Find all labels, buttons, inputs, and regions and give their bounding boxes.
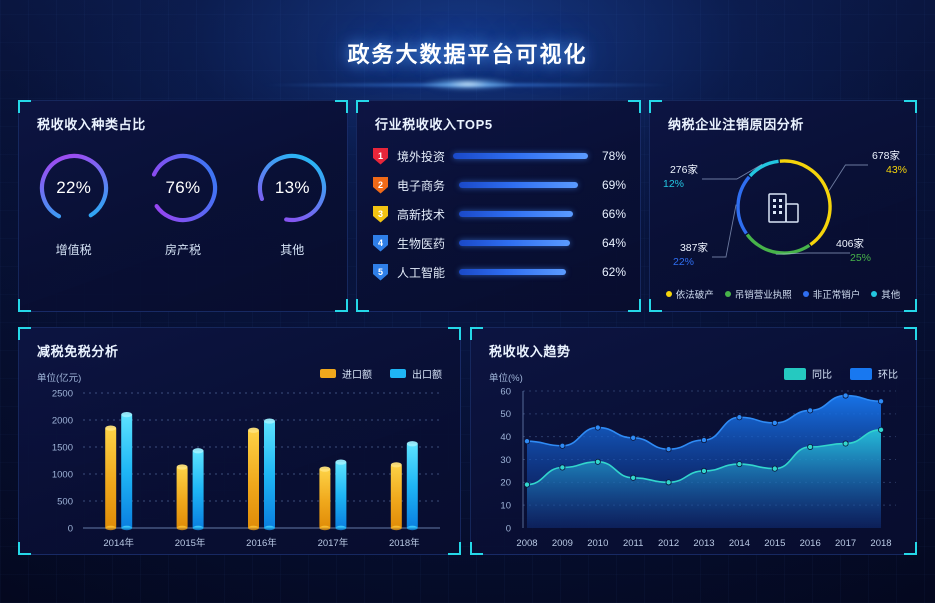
x-axis-tick-label: 2011	[623, 538, 643, 549]
data-point	[843, 441, 848, 446]
data-point	[701, 437, 706, 442]
x-axis-tick-label: 2017	[835, 538, 856, 549]
x-axis-tick-label: 2014	[729, 538, 750, 549]
top5-bar-fill	[459, 211, 573, 217]
bar	[407, 441, 418, 530]
top5-row[interactable]: 1境外投资78%	[373, 145, 626, 167]
top5-percent-value: 62%	[592, 265, 626, 279]
top5-industry-label: 生物医药	[397, 235, 457, 252]
data-point	[701, 468, 706, 473]
header-glow-core	[423, 78, 513, 90]
data-point	[878, 427, 883, 432]
corner-bracket-tl	[18, 100, 31, 113]
data-point	[666, 447, 671, 452]
top5-row[interactable]: 5人工智能62%	[373, 261, 626, 283]
top5-row[interactable]: 2电子商务69%	[373, 174, 626, 196]
donut-percent-label: 12%	[663, 178, 684, 190]
area-chart-legend: 同比环比	[784, 366, 898, 381]
top5-industry-label: 人工智能	[397, 264, 457, 281]
corner-bracket-bl	[356, 299, 369, 312]
gauge-label: 房产税	[165, 241, 201, 258]
x-axis-tick-label: 2014年	[103, 537, 134, 549]
top5-bar-fill	[453, 153, 588, 159]
bar	[121, 412, 132, 530]
legend-dot-icon	[871, 291, 877, 297]
panel-tax-reduction: 减税免税分析 单位(亿元) 进口额出口额 0500100015002000250…	[18, 327, 461, 555]
data-point	[737, 415, 742, 420]
gauge-label: 增值税	[56, 241, 92, 258]
panel-industry-top5: 行业税收收入TOP5 1境外投资78%2电子商务69%3高新技术66%4生物医药…	[356, 100, 641, 312]
panel-title-top5: 行业税收收入TOP5	[375, 114, 493, 133]
rank-badge-icon: 1	[373, 148, 388, 165]
top5-row[interactable]: 4生物医药64%	[373, 232, 626, 254]
bar	[248, 428, 259, 531]
x-axis-tick-label: 2009	[552, 538, 573, 549]
area-chart-unit-label: 单位(%)	[489, 370, 523, 384]
y-axis-tick-label: 10	[500, 501, 511, 512]
data-point	[737, 461, 742, 466]
donut-count-label: 406家	[836, 237, 865, 250]
top5-bar-track	[459, 269, 584, 275]
legend-label: 非正常销户	[813, 287, 861, 301]
x-axis-tick-label: 2010	[587, 538, 608, 549]
legend-label: 依法破产	[676, 287, 714, 301]
corner-bracket-tr	[904, 327, 917, 340]
legend-dot-icon	[803, 291, 809, 297]
cancellation-donut-chart: 678家43%406家25%387家22%276家12%	[650, 141, 916, 273]
gauge-label: 其他	[280, 241, 304, 258]
gauge-value: 13%	[253, 149, 331, 227]
x-axis-tick-label: 2012	[658, 538, 679, 549]
gauge-3: 13%其他	[253, 149, 331, 258]
y-axis-tick-label: 500	[57, 496, 73, 507]
bar-chart-legend: 进口额出口额	[320, 366, 442, 381]
y-axis-tick-label: 0	[68, 523, 73, 534]
legend-label: 同比	[812, 366, 832, 381]
bar	[177, 464, 188, 530]
legend-item[interactable]: 依法破产	[666, 287, 714, 301]
y-axis-tick-label: 60	[500, 386, 511, 397]
legend-item[interactable]: 其他	[871, 287, 900, 301]
panel-title-trend: 税收收入趋势	[489, 341, 571, 360]
panel-cancellation-reasons: 纳税企业注销原因分析 678家43%406家25%387家22%276家12% …	[649, 100, 917, 312]
data-point	[595, 425, 600, 430]
legend-item[interactable]: 非正常销户	[803, 287, 861, 301]
data-point	[878, 399, 883, 404]
legend-label: 出口额	[412, 366, 442, 381]
y-axis-tick-label: 1500	[52, 442, 73, 453]
bar	[335, 460, 346, 531]
bar	[264, 418, 275, 530]
cancellation-legend: 依法破产吊销营业执照非正常销户其他	[650, 287, 916, 301]
x-axis-tick-label: 2018	[870, 538, 891, 549]
bar	[319, 467, 330, 531]
x-axis-tick-label: 2013	[693, 538, 714, 549]
x-axis-tick-label: 2008	[516, 538, 537, 549]
top5-percent-value: 69%	[592, 178, 626, 192]
bar	[391, 462, 402, 530]
rank-badge-icon: 5	[373, 264, 388, 281]
page-title: 政务大数据平台可视化	[347, 37, 587, 69]
corner-bracket-tl	[18, 327, 31, 340]
x-axis-tick-label: 2017年	[318, 537, 349, 549]
y-axis-tick-label: 20	[500, 478, 511, 489]
y-axis-tick-label: 1000	[52, 469, 73, 480]
corner-bracket-tr	[904, 100, 917, 113]
panel-title-reduction: 减税免税分析	[37, 341, 119, 360]
gauge-ring: 76%	[144, 149, 222, 227]
legend-label: 吊销营业执照	[735, 287, 792, 301]
panel-tax-trend: 税收收入趋势 单位(%) 同比环比 0102030405060200820092…	[470, 327, 917, 555]
top5-industry-label: 高新技术	[397, 206, 457, 223]
legend-swatch-icon	[850, 368, 872, 380]
gauge-group: 22%增值税76%房产税13%其他	[19, 149, 347, 258]
top5-bar-fill	[459, 182, 578, 188]
y-axis-tick-label: 40	[500, 432, 511, 443]
data-point	[524, 439, 529, 444]
rank-badge-icon: 3	[373, 206, 388, 223]
data-point	[631, 475, 636, 480]
data-point	[843, 393, 848, 398]
legend-item[interactable]: 进口额	[320, 366, 372, 381]
legend-swatch-icon	[784, 368, 806, 380]
top5-row[interactable]: 3高新技术66%	[373, 203, 626, 225]
rank-badge-icon: 4	[373, 235, 388, 252]
data-point	[524, 482, 529, 487]
x-axis-tick-label: 2015年	[175, 537, 206, 549]
bar-chart-unit-label: 单位(亿元)	[37, 370, 81, 384]
legend-label: 环比	[878, 366, 898, 381]
top5-bar-fill	[459, 240, 570, 246]
top5-bar-track	[453, 153, 588, 159]
donut-count-label: 387家	[680, 241, 709, 254]
gauge-1: 22%增值税	[35, 149, 113, 258]
x-axis-tick-label: 2018年	[389, 537, 420, 549]
data-point	[772, 466, 777, 471]
legend-item[interactable]: 吊销营业执照	[725, 287, 792, 301]
rank-badge-icon: 2	[373, 177, 388, 194]
corner-bracket-tr	[628, 100, 641, 113]
panel-tax-type-ratio: 税收收入种类占比 22%增值税76%房产税13%其他	[18, 100, 348, 312]
data-point	[595, 459, 600, 464]
top5-industry-label: 境外投资	[397, 148, 451, 165]
corner-bracket-br	[335, 299, 348, 312]
data-point	[666, 480, 671, 485]
donut-count-label: 678家	[872, 149, 901, 162]
gauge-value: 22%	[35, 149, 113, 227]
data-point	[772, 420, 777, 425]
top5-list: 1境外投资78%2电子商务69%3高新技术66%4生物医药64%5人工智能62%	[373, 145, 626, 290]
panel-title-tax-type: 税收收入种类占比	[37, 114, 146, 133]
x-axis-tick-label: 2015	[764, 538, 785, 549]
corner-bracket-bl	[18, 299, 31, 312]
data-point	[560, 443, 565, 448]
legend-label: 进口额	[342, 366, 372, 381]
bar-chart-plot: 050010001500200025002014年2015年2016年2017年…	[19, 383, 462, 558]
corner-bracket-tr	[335, 100, 348, 113]
corner-bracket-tr	[448, 327, 461, 340]
legend-item[interactable]: 出口额	[390, 366, 442, 381]
top5-bar-track	[459, 182, 584, 188]
data-point	[808, 444, 813, 449]
donut-percent-label: 25%	[850, 252, 871, 264]
donut-count-label: 276家	[670, 163, 699, 176]
bar	[105, 426, 116, 531]
y-axis-tick-label: 2000	[52, 415, 73, 426]
x-axis-tick-label: 2016	[800, 538, 821, 549]
top5-percent-value: 66%	[592, 207, 626, 221]
legend-dot-icon	[666, 291, 672, 297]
top5-percent-value: 78%	[596, 149, 626, 163]
gauge-value: 76%	[144, 149, 222, 227]
y-axis-tick-label: 50	[500, 409, 511, 420]
legend-swatch-icon	[320, 369, 336, 378]
y-axis-tick-label: 2500	[52, 388, 73, 399]
dashboard-root: 政务大数据平台可视化 税收收入种类占比 22%增值税76%房产税13%其他 行业…	[0, 0, 935, 603]
legend-label: 其他	[881, 287, 900, 301]
data-point	[808, 408, 813, 413]
top5-bar-track	[459, 211, 584, 217]
y-axis-tick-label: 30	[500, 455, 511, 466]
top5-bar-fill	[459, 269, 566, 275]
legend-dot-icon	[725, 291, 731, 297]
donut-percent-label: 43%	[886, 164, 907, 176]
y-axis-tick-label: 0	[506, 523, 511, 534]
gauge-ring: 22%	[35, 149, 113, 227]
legend-item[interactable]: 环比	[850, 366, 898, 381]
panel-title-cancellation: 纳税企业注销原因分析	[668, 114, 804, 133]
corner-bracket-tl	[356, 100, 369, 113]
area-chart-plot: 0102030405060200820092010201120122013201…	[471, 383, 918, 558]
corner-bracket-br	[628, 299, 641, 312]
x-axis-tick-label: 2016年	[246, 537, 277, 549]
corner-bracket-tl	[649, 100, 662, 113]
data-point	[631, 435, 636, 440]
top5-percent-value: 64%	[592, 236, 626, 250]
building-icon	[769, 194, 798, 222]
legend-swatch-icon	[390, 369, 406, 378]
gauge-2: 76%房产税	[144, 149, 222, 258]
top5-industry-label: 电子商务	[397, 177, 457, 194]
data-point	[560, 465, 565, 470]
top5-bar-track	[459, 240, 584, 246]
donut-percent-label: 22%	[673, 256, 694, 268]
donut-svg: 678家43%406家25%387家22%276家12%	[650, 141, 918, 273]
corner-bracket-tl	[470, 327, 483, 340]
bar	[193, 448, 204, 530]
legend-item[interactable]: 同比	[784, 366, 832, 381]
gauge-ring: 13%	[253, 149, 331, 227]
